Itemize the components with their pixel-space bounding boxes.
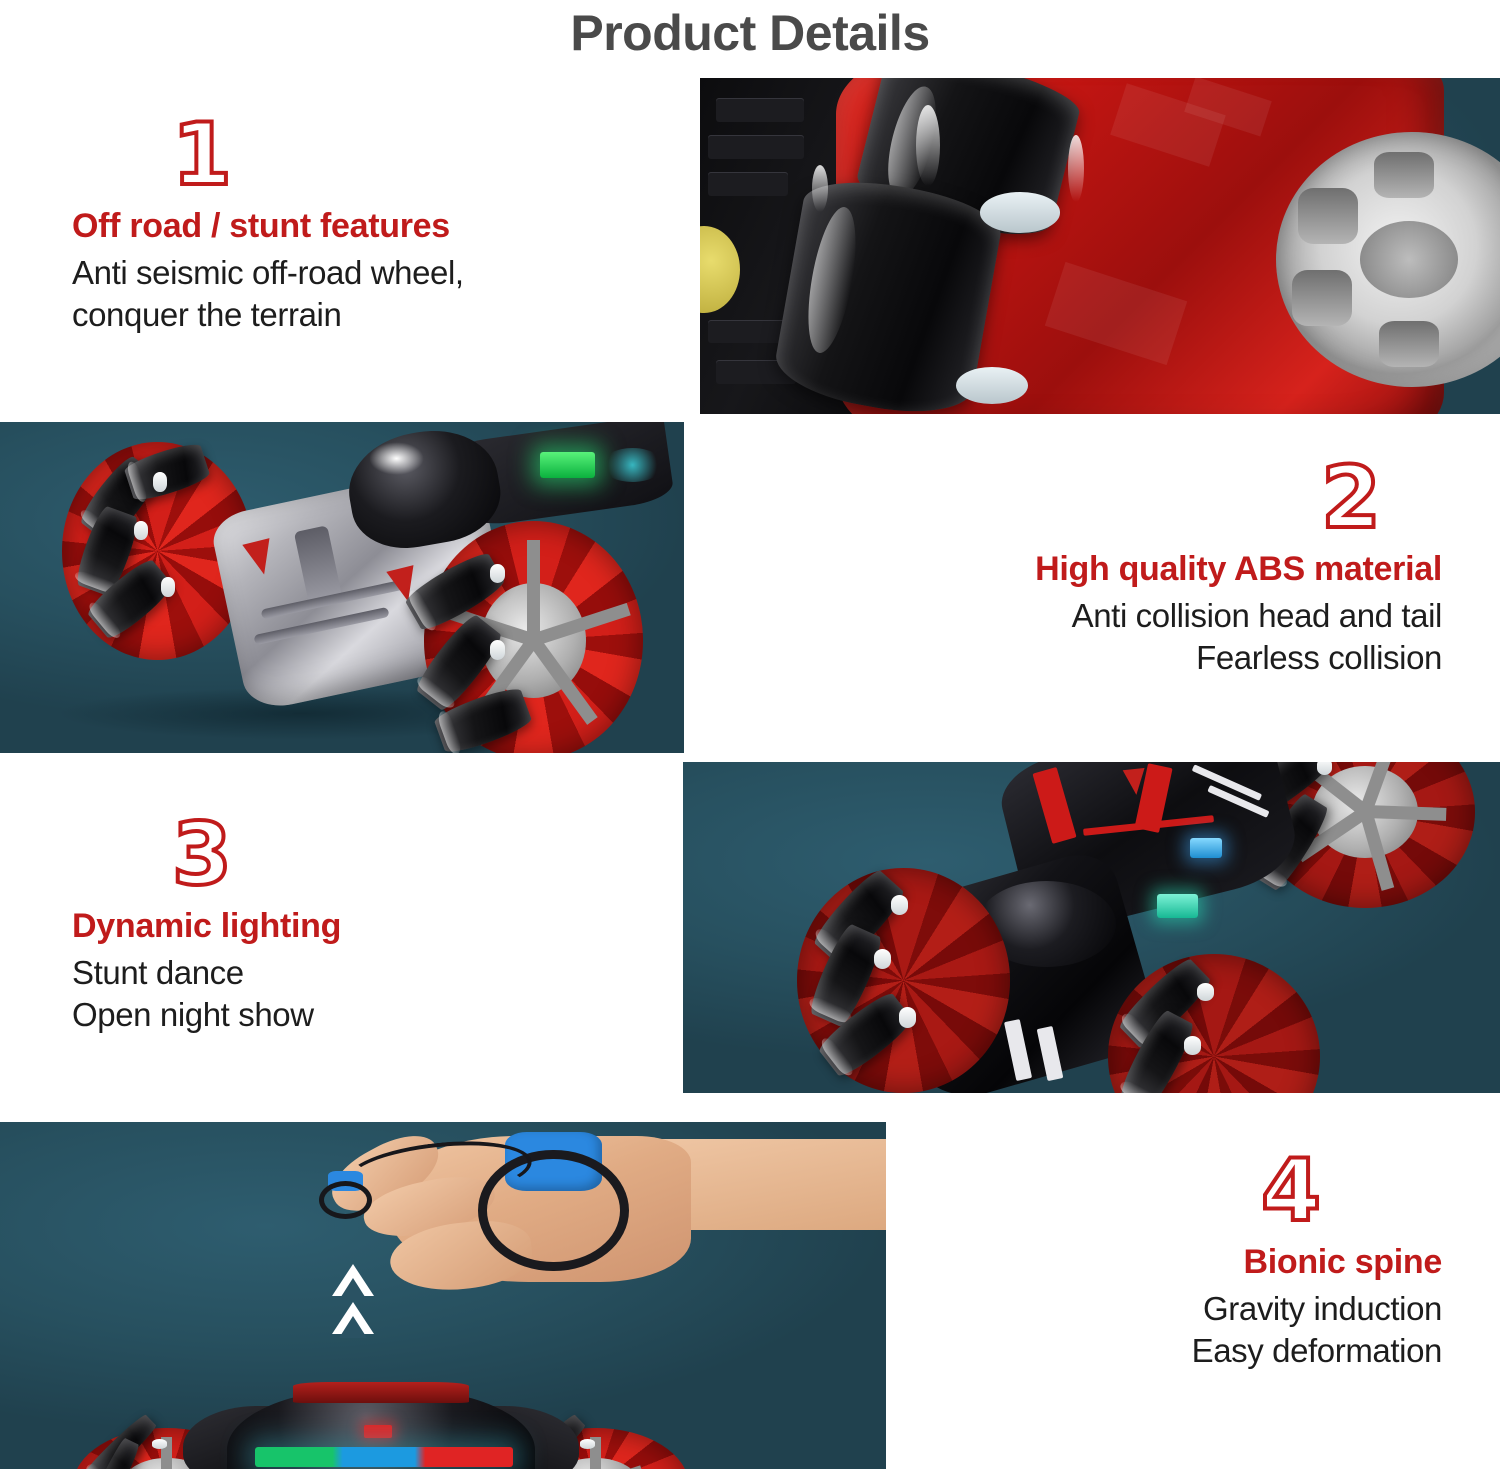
feature-subline-3b: Open night show — [72, 994, 532, 1036]
feature-subline-1b: conquer the terrain — [72, 294, 592, 336]
roller-end-cap — [980, 192, 1060, 232]
gloss-highlight — [916, 105, 940, 186]
rgb-led-light-bar — [255, 1447, 513, 1467]
roller-cap — [153, 472, 166, 492]
roller-cap — [1184, 1036, 1201, 1054]
feature-subline-2a: Anti collision head and tail — [902, 595, 1442, 637]
roller-end-cap — [956, 367, 1028, 404]
roller-cap — [134, 521, 147, 541]
feature-headline-1: Off road / stunt features — [72, 204, 592, 248]
red-arrow-decal — [1123, 768, 1148, 796]
photo-black-car-lighting — [683, 762, 1500, 1093]
hub-spoke — [527, 540, 540, 640]
roller-cap — [490, 640, 505, 659]
hub-spoke — [1292, 270, 1352, 326]
green-indicator-led — [540, 452, 595, 478]
roller-cap — [161, 577, 174, 597]
roller-cap — [490, 564, 505, 583]
rc-car — [106, 1379, 655, 1469]
feature-headline-2: High quality ABS material — [902, 547, 1442, 591]
feature-subline-4a: Gravity induction — [972, 1288, 1442, 1330]
feature-subline-4b: Easy deformation — [972, 1330, 1442, 1372]
mecanum-wheel — [424, 521, 643, 753]
roller-cap — [891, 895, 908, 915]
roller-cap — [580, 1439, 595, 1448]
feature-number-3: 3 — [72, 812, 532, 898]
feature-headline-4: Bionic spine — [972, 1240, 1442, 1284]
tread-lug — [708, 135, 804, 159]
mecanum-wheel — [797, 868, 1009, 1093]
roller-cap — [152, 1439, 167, 1448]
hub-center — [1360, 221, 1458, 298]
feature-subline-3a: Stunt dance — [72, 952, 532, 994]
feature-subline-2b: Fearless collision — [902, 637, 1442, 679]
feature-block-3: 3 Dynamic lighting Stunt dance Open nigh… — [72, 812, 532, 1036]
roller-cap — [1197, 983, 1214, 1001]
feature-headline-3: Dynamic lighting — [72, 904, 532, 948]
feature-block-4: 4 Bionic spine Gravity induction Easy de… — [972, 1148, 1442, 1372]
arrow-up-icon — [332, 1302, 374, 1334]
photo-gesture-control-hand — [0, 1122, 886, 1469]
gloss-highlight — [1068, 135, 1084, 202]
red-status-led — [364, 1425, 391, 1439]
feature-number-4: 4 — [972, 1148, 1442, 1234]
hub-spoke — [1379, 321, 1439, 367]
photo-wheel-closeup — [700, 78, 1500, 414]
photo-car-side-stunt — [0, 422, 684, 753]
product-details-page: Product Details — [0, 0, 1500, 1469]
roller-cap — [874, 949, 891, 969]
feature-block-2: 2 High quality ABS material Anti collisi… — [902, 455, 1442, 679]
feature-subline-1a: Anti seismic off-road wheel, — [72, 252, 592, 294]
arrow-up-icon — [332, 1264, 374, 1296]
feature-number-1: 1 — [72, 112, 592, 198]
hub-spoke — [1298, 188, 1358, 244]
tread-lug — [716, 98, 804, 122]
page-title: Product Details — [0, 4, 1500, 62]
teal-indicator-led — [1157, 894, 1198, 917]
feature-block-1: 1 Off road / stunt features Anti seismic… — [72, 112, 592, 336]
feature-number-2: 2 — [902, 455, 1442, 541]
blue-indicator-led — [1190, 838, 1223, 858]
tread-lug — [708, 172, 788, 196]
hub-spoke — [1365, 805, 1446, 821]
dome-highlight — [369, 442, 424, 475]
cyan-glow-led — [602, 448, 664, 481]
car-roof-decal — [293, 1382, 469, 1403]
roller-cap — [899, 1007, 916, 1027]
hub-spoke — [1374, 152, 1434, 198]
